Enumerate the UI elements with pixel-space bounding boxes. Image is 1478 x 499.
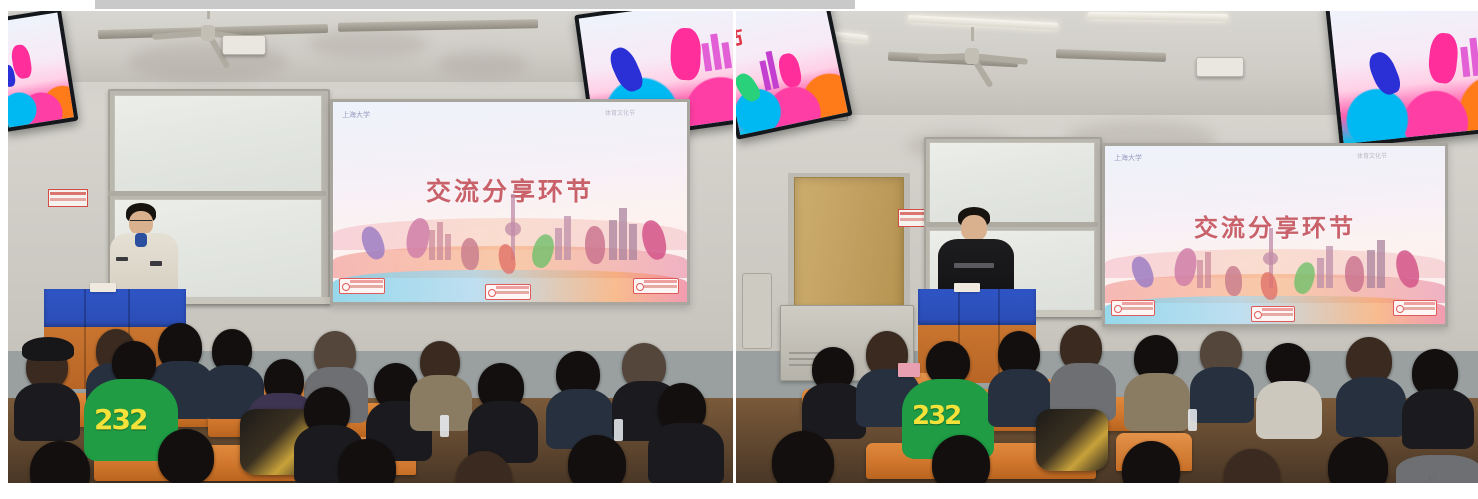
- wall-equipment: [742, 273, 772, 349]
- figure-right-photo[interactable]: 节: [736, 11, 1478, 483]
- whiteboard-panel-upper: [114, 95, 322, 193]
- projection-screen: 上海大学 体育文化节 交流分享环节: [1102, 143, 1448, 327]
- slide-logo-text: 上海大学: [1114, 153, 1142, 163]
- tv-display-right: [1325, 11, 1478, 148]
- wall-sign: [48, 189, 88, 207]
- backpack: [1036, 409, 1108, 471]
- whiteboard-rail: [108, 191, 326, 196]
- wooden-door[interactable]: [794, 177, 904, 315]
- paragraph-mark: ↵: [1427, 470, 1438, 486]
- audience-torso: [1336, 377, 1406, 437]
- water-bottle: [440, 415, 449, 437]
- slide-logo-text: 上海大学: [342, 110, 370, 120]
- water-bottle: [614, 419, 623, 441]
- cap-icon: [22, 337, 74, 361]
- slide-title: 交流分享环节: [333, 172, 687, 208]
- projector-icon: [222, 35, 266, 55]
- slide-basketball-silhouette: [1225, 266, 1242, 296]
- slide-badge: [633, 278, 679, 294]
- slide-player-silhouette: [1345, 256, 1364, 292]
- audience-torso: [1124, 373, 1190, 431]
- podium-top: [44, 289, 186, 327]
- slide-badge: [339, 278, 385, 294]
- projection-screen: 上海大学 体育文化节 交流分享环节: [330, 99, 690, 305]
- slide-badge: [1251, 306, 1295, 322]
- document-page: 节 上海大学 体育文化节 交流分享环节: [0, 0, 1478, 499]
- figure-left-photo[interactable]: 节 上海大学 体育文化节 交流分享环节: [8, 11, 733, 483]
- water-bottle: [1188, 409, 1197, 431]
- podium-seam: [998, 289, 1000, 383]
- audience-torso: [1190, 367, 1254, 423]
- paper-sheet: [898, 363, 920, 377]
- audience-torso: [648, 423, 724, 483]
- jersey-number: 232: [912, 401, 960, 431]
- slide-player-silhouette: [585, 226, 605, 264]
- audience-torso: [14, 383, 80, 441]
- slide-header-text: 体育文化节: [1357, 151, 1387, 160]
- paper-sheet: [90, 283, 116, 292]
- slide-title: 交流分享环节: [1105, 208, 1445, 243]
- slide-badge: [1111, 300, 1155, 316]
- ceiling-fan-icon: [912, 39, 1032, 67]
- wall-stain: [438, 51, 528, 77]
- slide-badge: [485, 284, 531, 300]
- audience-torso: [1256, 381, 1322, 439]
- projector-icon: [1196, 57, 1244, 77]
- wall-stain: [308, 29, 428, 59]
- slide-header-text: 体育文化节: [605, 108, 635, 117]
- audience-torso: [1402, 389, 1474, 449]
- podium-seam: [84, 289, 86, 389]
- slide-badge: [1393, 300, 1437, 316]
- document-ruler-strip: [95, 0, 855, 9]
- jersey-number: 232: [94, 403, 146, 436]
- presenter-left: [104, 203, 184, 301]
- slide-basketball-silhouette: [461, 238, 479, 270]
- podium-top: [918, 289, 1036, 325]
- audience-head: [158, 429, 214, 483]
- paper-sheet: [954, 283, 980, 292]
